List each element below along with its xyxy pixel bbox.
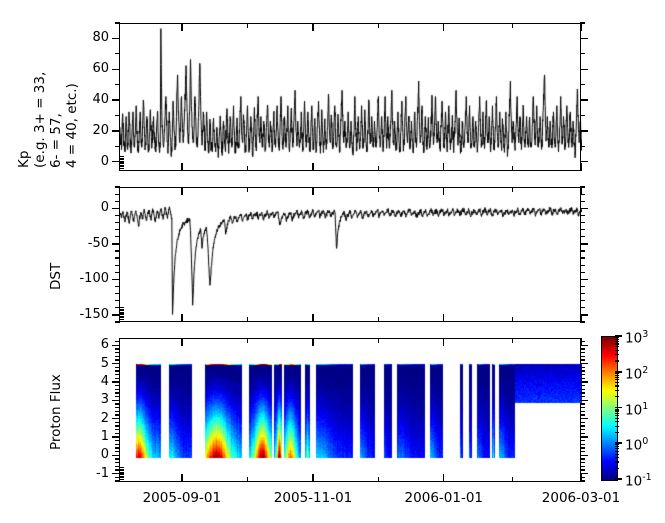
x-edge-minor [120, 479, 124, 480]
y-tick-minor [115, 293, 120, 294]
kp-trace-canvas [120, 24, 582, 172]
y-tick-minor [115, 411, 120, 412]
y-tick-label: -150 [79, 308, 109, 321]
colorbar-tick-minor [615, 409, 619, 410]
x-edge-minor [120, 166, 124, 167]
y-tick-major [112, 455, 120, 456]
y-tick-minor-right [580, 222, 585, 223]
y-tick-minor [115, 22, 120, 23]
y-tick-minor-right [580, 359, 585, 360]
y-tick-minor [115, 480, 120, 481]
x-tick-minor-top [512, 187, 513, 192]
y-tick-minor-right [580, 385, 585, 386]
y-tick-label: -100 [79, 272, 109, 285]
y-tick-label: -1 [96, 467, 109, 480]
x-edge-minor [120, 163, 124, 164]
y-tick-major [112, 243, 120, 244]
y-tick-label: 60 [92, 62, 109, 75]
y-tick-minor-right [580, 374, 585, 375]
x-edge-minor [120, 161, 124, 162]
colorbar-tick-minor [615, 373, 619, 374]
y-tick-minor [115, 403, 120, 404]
colorbar-tick-minor [615, 390, 619, 391]
colorbar-tick-minor [615, 339, 619, 340]
y-tick-minor-right [580, 403, 585, 404]
x-tick-minor-top [378, 187, 379, 192]
x-edge-minor [120, 156, 124, 157]
y-tick-minor-right [580, 414, 585, 415]
dst-trace-canvas [120, 188, 582, 323]
colorbar-tick-minor [615, 415, 619, 416]
y-tick-minor [115, 194, 120, 195]
colorbar-tick-minor [615, 413, 619, 414]
y-tick-label: -50 [88, 237, 109, 250]
y-tick-minor-right [580, 407, 585, 408]
y-tick-minor [115, 321, 120, 322]
colorbar-tick-minor [615, 454, 619, 455]
x-tick-major [580, 474, 581, 482]
colorbar-tick-minor [615, 457, 619, 458]
x-tick-major-top [443, 338, 444, 346]
x-tick-minor [247, 317, 248, 322]
colorbar-tick-minor [615, 421, 619, 422]
x-tick-major [181, 163, 182, 171]
y-tick-minor-right [580, 429, 585, 430]
x-tick-major [312, 474, 313, 482]
x-tick-major-top [312, 187, 313, 195]
y-tick-minor-right [580, 466, 585, 467]
colorbar-tick-minor [615, 382, 619, 383]
x-tick-major [312, 314, 313, 322]
y-tick-minor [115, 389, 120, 390]
y-tick-minor-right [580, 356, 585, 357]
y-tick-minor-right [580, 348, 585, 349]
y-tick-minor-right [580, 352, 585, 353]
x-edge-minor [120, 470, 124, 471]
x-tick-major-top [443, 187, 444, 195]
colorbar-tick-minor [615, 385, 619, 386]
y-tick-minor-right [580, 367, 585, 368]
x-tick-minor [512, 166, 513, 171]
y-tick-major [112, 400, 120, 401]
x-edge-minor [120, 317, 124, 318]
x-tick-major-top [181, 23, 182, 31]
colorbar-tick-minor [615, 360, 619, 361]
colorbar-tick-minor [615, 444, 619, 445]
y-tick-major [112, 279, 120, 280]
y-tick-minor-right [580, 265, 585, 266]
y-tick-minor-right [580, 396, 585, 397]
y-tick-minor-right [580, 411, 585, 412]
x-edge-minor [120, 477, 124, 478]
colorbar-tick-minor [615, 446, 619, 447]
y-tick-minor-right [580, 293, 585, 294]
y-tick-minor [115, 265, 120, 266]
y-tick-minor-right [580, 451, 585, 452]
y-tick-minor-right [580, 392, 585, 393]
colorbar-tick-minor [615, 350, 619, 351]
colorbar-tick-minor [615, 426, 619, 427]
x-edge-minor [120, 165, 124, 166]
y-tick-minor-right [580, 447, 585, 448]
y-tick-minor [115, 385, 120, 386]
y-tick-label: 40 [92, 93, 109, 106]
y-tick-minor-right [580, 115, 585, 116]
colorbar-tick-minor [615, 461, 619, 462]
x-tick-major [580, 314, 581, 322]
y-tick-minor-right [580, 286, 585, 287]
y-tick-minor [115, 429, 120, 430]
y-tick-minor [115, 396, 120, 397]
y-tick-minor [115, 201, 120, 202]
colorbar-tick-label: 101 [625, 400, 648, 418]
space-weather-figure: Kp (e.g. 3+ = 33, 6- = 57, 4 = 40, etc.)… [0, 0, 665, 523]
x-tick-minor-top [512, 23, 513, 28]
y-tick-minor [115, 378, 120, 379]
x-edge-minor [120, 162, 124, 163]
kp-axis-title: Kp (e.g. 3+ = 33, 6- = 57, 4 = 40, etc.) [0, 0, 118, 170]
colorbar-tick-minor [615, 341, 619, 342]
y-tick-minor-right [580, 444, 585, 445]
colorbar-tick-label: 102 [625, 364, 648, 382]
y-tick-major-right [580, 69, 588, 70]
y-tick-minor [115, 229, 120, 230]
colorbar-tick-minor [615, 451, 619, 452]
x-tick-major [181, 314, 182, 322]
x-edge-minor [120, 307, 124, 308]
y-tick-minor [115, 257, 120, 258]
y-tick-label: 0 [101, 201, 109, 214]
y-tick-minor [115, 440, 120, 441]
colorbar-tick-minor [615, 354, 619, 355]
kp-axis-title-line-3: 6- = 57, [48, 113, 64, 168]
x-tick-minor [378, 166, 379, 171]
y-tick-major-right [580, 208, 588, 209]
y-tick-minor [115, 272, 120, 273]
y-tick-minor [115, 447, 120, 448]
colorbar-tick-minor [615, 418, 619, 419]
y-tick-minor [115, 370, 120, 371]
colorbar-tick-minor [615, 377, 619, 378]
y-tick-minor [115, 300, 120, 301]
dst-axis-title: DST [48, 263, 64, 290]
y-tick-minor [115, 146, 120, 147]
x-tick-major [443, 474, 444, 482]
colorbar-tick-minor [615, 346, 619, 347]
kp-axis-title-line-2: (e.g. 3+ = 33, [32, 72, 48, 168]
y-tick-major-right [580, 400, 588, 401]
x-tick-major-top [181, 187, 182, 195]
x-edge-minor [120, 316, 124, 317]
y-tick-minor [115, 458, 120, 459]
x-tick-minor [247, 477, 248, 482]
y-tick-major-right [580, 363, 588, 364]
y-tick-major [112, 69, 120, 70]
x-tick-minor [378, 477, 379, 482]
y-tick-minor [115, 425, 120, 426]
x-edge-minor [120, 312, 124, 313]
x-tick-label: 2006-03-01 [542, 491, 620, 505]
proton-flux-axis-title: Proton Flux [48, 374, 64, 450]
y-tick-minor [115, 422, 120, 423]
y-tick-minor [115, 115, 120, 116]
y-tick-major [112, 38, 120, 39]
y-tick-minor [115, 392, 120, 393]
x-tick-major-top [580, 338, 581, 346]
y-tick-label: 2 [101, 412, 109, 425]
x-tick-major [181, 474, 182, 482]
y-tick-minor [115, 367, 120, 368]
x-edge-minor [120, 314, 124, 315]
y-tick-minor-right [580, 422, 585, 423]
x-tick-minor [512, 477, 513, 482]
dst-plot-panel [119, 187, 581, 322]
y-tick-major-right [580, 455, 588, 456]
x-tick-major-top [312, 23, 313, 31]
y-tick-minor-right [580, 462, 585, 463]
y-tick-label: 0 [101, 448, 109, 461]
x-tick-major [443, 314, 444, 322]
y-tick-minor-right [580, 389, 585, 390]
y-tick-major [112, 99, 120, 100]
y-tick-minor-right [580, 84, 585, 85]
y-tick-minor [115, 53, 120, 54]
y-tick-minor-right [580, 53, 585, 54]
y-tick-minor-right [580, 307, 585, 308]
x-edge-minor [120, 309, 124, 310]
x-edge-minor [120, 168, 124, 169]
x-edge-minor [120, 313, 124, 314]
x-tick-label: 2006-01-01 [405, 491, 483, 505]
y-tick-minor [115, 250, 120, 251]
x-tick-minor-top [378, 338, 379, 343]
y-tick-minor [115, 352, 120, 353]
colorbar-tick-major [615, 478, 622, 480]
y-tick-label: 80 [92, 31, 109, 44]
y-tick-label: 0 [101, 155, 109, 168]
x-tick-major-top [580, 23, 581, 31]
y-tick-minor-right [580, 229, 585, 230]
y-tick-minor-right [580, 433, 585, 434]
y-tick-major-right [580, 279, 588, 280]
y-tick-minor [115, 236, 120, 237]
colorbar-tick-minor [615, 396, 619, 397]
y-tick-minor-right [580, 458, 585, 459]
x-tick-label: 2005-09-01 [143, 491, 221, 505]
y-tick-major [112, 130, 120, 131]
y-tick-minor-right [580, 215, 585, 216]
x-tick-major [443, 163, 444, 171]
x-edge-minor [120, 310, 124, 311]
x-edge-minor [120, 158, 124, 159]
y-tick-minor-right [580, 378, 585, 379]
x-tick-label: 2005-11-01 [274, 491, 352, 505]
y-tick-major-right [580, 381, 588, 382]
y-tick-major-right [580, 99, 588, 100]
y-tick-minor-right [580, 250, 585, 251]
colorbar-tick-minor [615, 448, 619, 449]
colorbar-tick-label: 103 [625, 328, 648, 346]
x-tick-major-top [312, 338, 313, 346]
y-tick-major-right [580, 436, 588, 437]
y-tick-minor-right [580, 257, 585, 258]
y-tick-minor-right [580, 236, 585, 237]
y-tick-minor-right [580, 201, 585, 202]
y-tick-major-right [580, 38, 588, 39]
y-tick-minor [115, 341, 120, 342]
y-tick-minor-right [580, 425, 585, 426]
y-tick-minor [115, 451, 120, 452]
y-tick-major-right [580, 418, 588, 419]
y-tick-minor-right [580, 146, 585, 147]
y-tick-minor [115, 407, 120, 408]
y-tick-minor-right [580, 370, 585, 371]
y-tick-label: 6 [101, 338, 109, 351]
x-tick-minor [378, 317, 379, 322]
colorbar-tick-minor [615, 379, 619, 380]
x-tick-major-top [443, 23, 444, 31]
x-edge-minor [120, 319, 124, 320]
y-tick-minor [115, 348, 120, 349]
y-tick-major-right [580, 130, 588, 131]
y-tick-minor [115, 414, 120, 415]
x-tick-major [580, 163, 581, 171]
colorbar-tick-label: 10-1 [625, 471, 652, 489]
x-tick-minor-top [378, 23, 379, 28]
x-tick-major-top [580, 187, 581, 195]
colorbar-tick-minor [615, 410, 619, 411]
y-tick-major [112, 345, 120, 346]
colorbar-tick-minor [615, 375, 619, 376]
y-tick-label: 5 [101, 357, 109, 370]
x-tick-minor-top [512, 338, 513, 343]
x-edge-minor [120, 473, 124, 474]
x-tick-minor-top [247, 187, 248, 192]
x-edge-minor [120, 472, 124, 473]
kp-axis-title-line-4: 4 = 40, etc.) [64, 83, 80, 168]
y-tick-major [112, 208, 120, 209]
colorbar-tick-minor [615, 468, 619, 469]
x-edge-minor [120, 469, 124, 470]
x-edge-minor [120, 474, 124, 475]
y-tick-minor [115, 356, 120, 357]
colorbar-tick-minor [615, 432, 619, 433]
y-tick-minor [115, 374, 120, 375]
x-tick-minor-top [247, 23, 248, 28]
colorbar-tick-label: 100 [625, 435, 648, 453]
y-tick-minor [115, 186, 120, 187]
proton-flux-spectrogram-canvas [120, 339, 582, 483]
proton-flux-plot-panel [119, 338, 581, 482]
y-tick-label: 4 [101, 375, 109, 388]
y-tick-minor [115, 286, 120, 287]
y-tick-major-right [580, 243, 588, 244]
x-tick-minor [247, 166, 248, 171]
y-tick-label: 1 [101, 430, 109, 443]
y-tick-minor-right [580, 300, 585, 301]
kp-axis-title-line-1: Kp [16, 151, 32, 168]
y-tick-minor-right [580, 469, 585, 470]
x-tick-minor-top [247, 338, 248, 343]
y-tick-label: 20 [92, 124, 109, 137]
y-tick-label: 3 [101, 393, 109, 406]
x-tick-major-top [181, 338, 182, 346]
y-tick-minor [115, 359, 120, 360]
x-tick-major [312, 163, 313, 171]
x-edge-minor [120, 467, 124, 468]
y-tick-minor [115, 222, 120, 223]
y-tick-minor [115, 215, 120, 216]
y-tick-minor [115, 84, 120, 85]
x-edge-minor [120, 159, 124, 160]
y-tick-major [112, 418, 120, 419]
colorbar-tick-minor [615, 343, 619, 344]
x-edge-minor [120, 476, 124, 477]
y-tick-major [112, 381, 120, 382]
y-tick-minor [115, 462, 120, 463]
x-tick-minor [512, 317, 513, 322]
y-tick-major [112, 363, 120, 364]
colorbar-tick-minor [615, 337, 619, 338]
y-tick-minor-right [580, 272, 585, 273]
y-tick-minor-right [580, 440, 585, 441]
y-tick-minor [115, 444, 120, 445]
y-tick-major [112, 436, 120, 437]
y-tick-minor [115, 433, 120, 434]
kp-plot-panel [119, 23, 581, 171]
